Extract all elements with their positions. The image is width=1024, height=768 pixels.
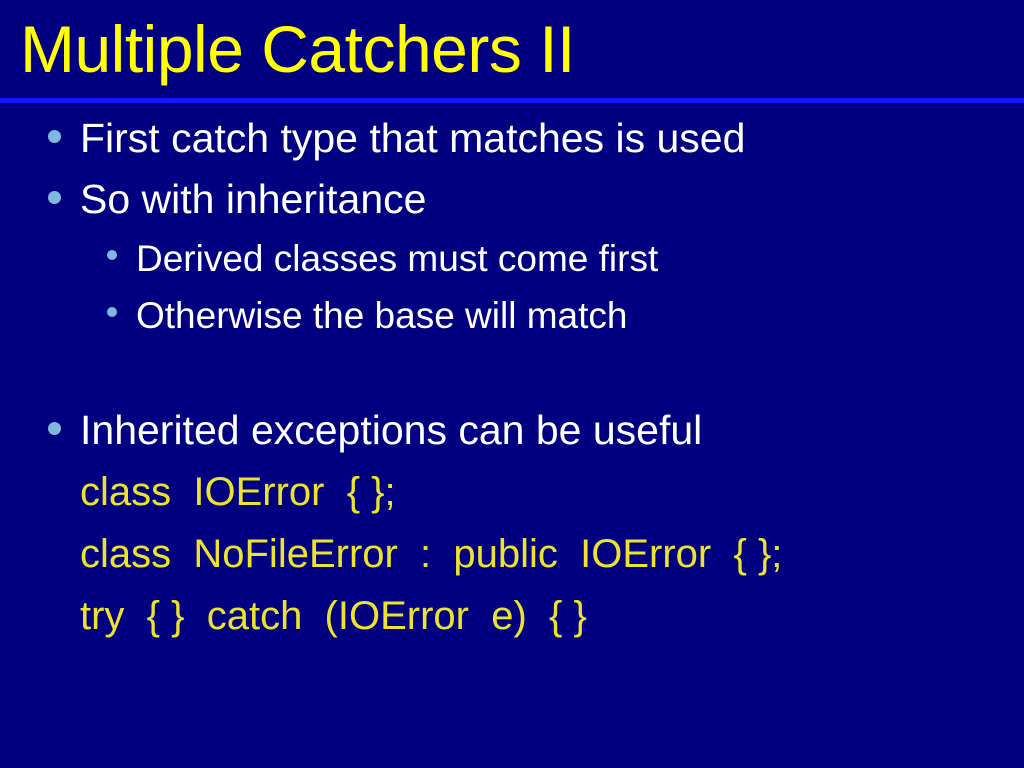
bullet-label: So with inheritance: [80, 169, 426, 230]
title-divider-rule: [0, 98, 1024, 103]
code-line-1: class IOError { };: [0, 461, 1024, 523]
page-title: Multiple Catchers II: [20, 12, 575, 86]
bullet-item-3: Inherited exceptions can be useful: [0, 400, 1024, 461]
bullet-label: First catch type that matches is used: [80, 108, 745, 169]
slide-body: First catch type that matches is used So…: [0, 108, 1024, 768]
presentation-slide: Multiple Catchers II First catch type th…: [0, 0, 1024, 768]
bullet-item-2: So with inheritance: [0, 169, 1024, 230]
bullet-dot-icon: [48, 422, 61, 435]
bullet-dot-icon: [48, 191, 61, 204]
sub-bullet-item-1: Derived classes must come first: [0, 230, 1024, 287]
blank-line-spacer: [0, 344, 1024, 400]
sub-bullet-label: Derived classes must come first: [136, 230, 658, 287]
sub-bullet-label: Otherwise the base will match: [136, 287, 627, 344]
slide-title-area: Multiple Catchers II: [0, 0, 1024, 100]
code-line-2: class NoFileError : public IOError { };: [0, 523, 1024, 585]
bullet-label: Inherited exceptions can be useful: [80, 400, 702, 461]
sub-bullet-dot-icon: [107, 250, 117, 260]
sub-bullet-item-2: Otherwise the base will match: [0, 287, 1024, 344]
bullet-item-1: First catch type that matches is used: [0, 108, 1024, 169]
sub-bullet-dot-icon: [107, 307, 117, 317]
bullet-dot-icon: [48, 130, 61, 143]
code-line-3: try { } catch (IOError e) { }: [0, 585, 1024, 647]
